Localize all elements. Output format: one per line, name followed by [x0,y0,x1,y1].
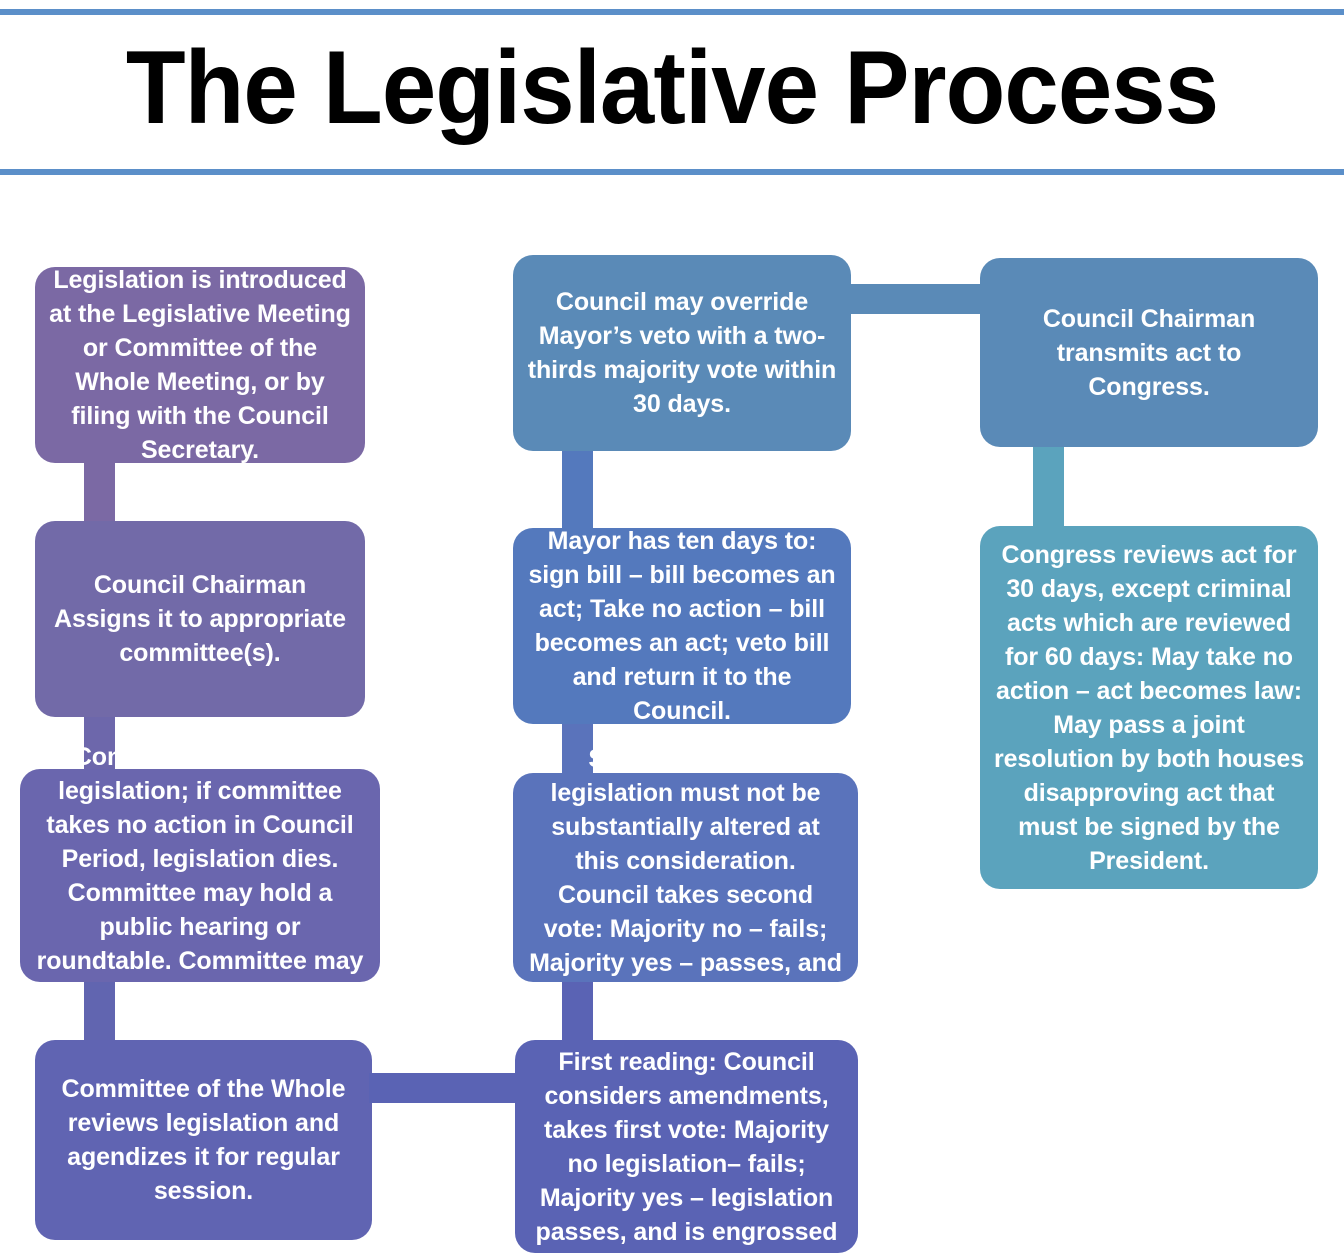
flow-node-label: Committee considers legislation; if comm… [34,740,366,1012]
flow-node-label: Congress reviews act for 30 days, except… [994,538,1304,878]
flow-node-label: First reading: Council considers amendme… [529,1045,844,1249]
flow-node-second-reading[interactable]: Second reading: legislation must not be … [513,773,858,982]
flow-node-chairman-assigns-committee[interactable]: Council Chairman Assigns it to appropria… [35,521,365,717]
connector-left-4-to-first-reading [369,1073,519,1103]
flow-node-label: Mayor has ten days to: sign bill – bill … [527,524,837,728]
flow-node-label: Second reading: legislation must not be … [527,742,844,1014]
flow-node-congress-reviews-act[interactable]: Congress reviews act for 30 days, except… [980,526,1318,889]
flow-node-committee-of-the-whole-reviews[interactable]: Committee of the Whole reviews legislati… [35,1040,372,1240]
connector-transmit-to-congress-review [1033,447,1064,526]
flow-node-legislation-introduced[interactable]: Legislation is introduced at the Legisla… [35,267,365,463]
title-rule-top [0,9,1344,15]
flow-node-mayor-ten-days[interactable]: Mayor has ten days to: sign bill – bill … [513,528,851,724]
title-rule-bottom [0,169,1344,175]
connector-left-1-to-2 [84,463,115,521]
flow-node-chairman-transmits-to-congress[interactable]: Council Chairman transmits act to Congre… [980,258,1318,447]
flow-node-label: Legislation is introduced at the Legisla… [49,263,351,467]
connector-mayor-to-override [562,451,593,530]
flow-node-label: Council Chairman Assigns it to appropria… [49,568,351,670]
flow-node-first-reading[interactable]: First reading: Council considers amendme… [515,1040,858,1253]
connector-override-to-transmit [851,284,982,314]
flow-node-label: Committee of the Whole reviews legislati… [49,1072,358,1208]
flow-node-committee-considers[interactable]: Committee considers legislation; if comm… [20,769,380,982]
flow-node-council-override-veto[interactable]: Council may override Mayor’s veto with a… [513,255,851,451]
page-title: The Legislative Process [40,24,1303,152]
title-band: The Legislative Process [0,0,1344,180]
connector-first-to-second-reading [562,982,593,1040]
flow-node-label: Council Chairman transmits act to Congre… [994,302,1304,404]
connector-left-3-to-4 [84,982,115,1040]
flow-node-label: Council may override Mayor’s veto with a… [527,285,837,421]
